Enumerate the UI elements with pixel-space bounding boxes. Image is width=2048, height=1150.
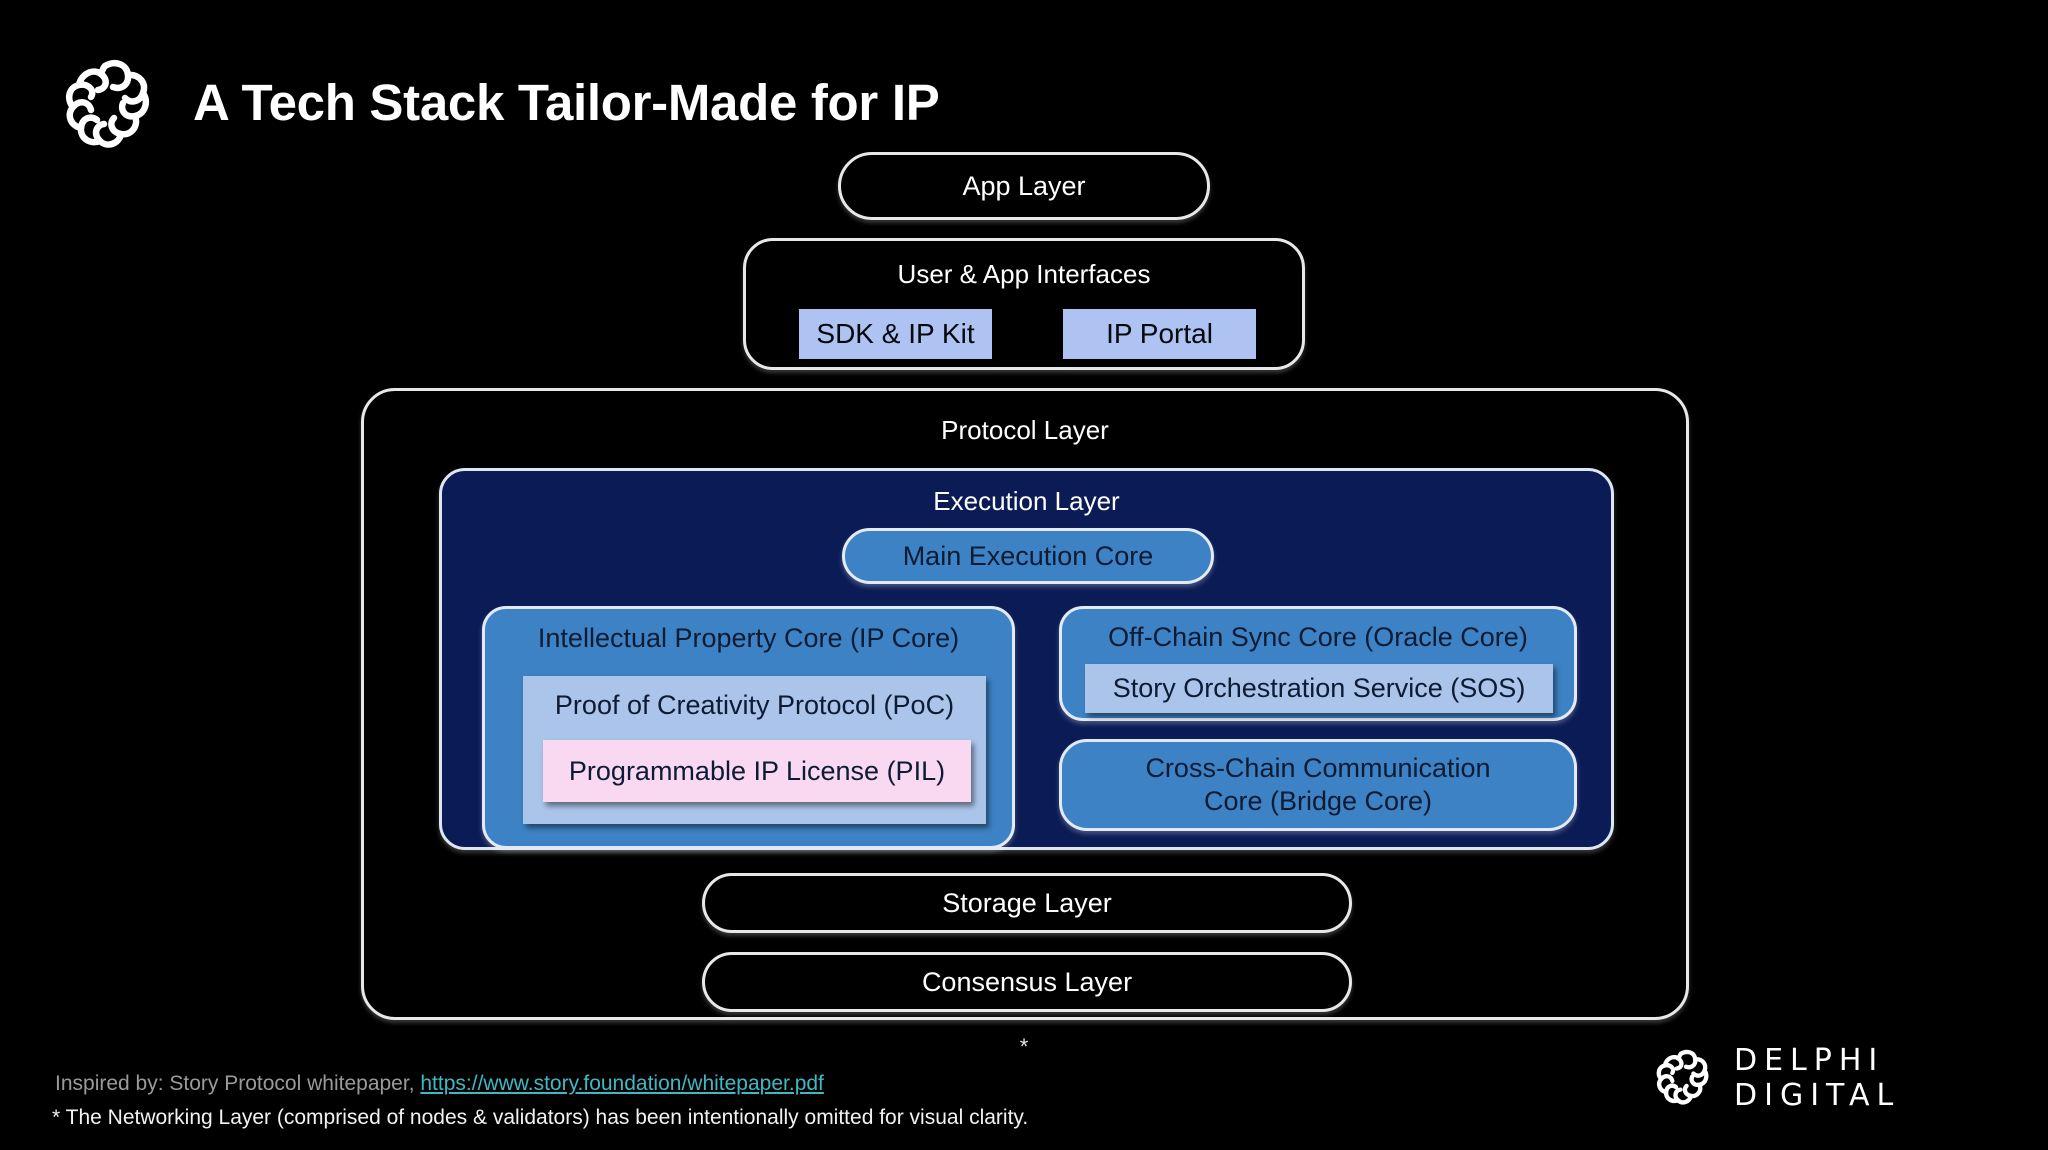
disclaimer-line: * The Networking Layer (comprised of nod…	[52, 1106, 1028, 1130]
storage-layer-label: Storage Layer	[942, 888, 1112, 919]
pil-box[interactable]: Programmable IP License (PIL)	[543, 740, 971, 802]
main-execution-core-box[interactable]: Main Execution Core	[842, 528, 1214, 584]
execution-layer-label: Execution Layer	[442, 486, 1611, 517]
bridge-core-label-line1: Cross-Chain Communication	[1145, 752, 1490, 785]
sdk-ip-kit-box[interactable]: SDK & IP Kit	[799, 309, 992, 359]
slide-header: A Tech Stack Tailor-Made for IP	[55, 52, 939, 152]
whitepaper-link[interactable]: https://www.story.foundation/whitepaper.…	[420, 1072, 824, 1095]
app-layer-box[interactable]: App Layer	[838, 152, 1210, 220]
user-app-interfaces-box[interactable]: User & App Interfaces SDK & IP Kit IP Po…	[743, 238, 1305, 370]
ip-core-label: Intellectual Property Core (IP Core)	[485, 623, 1012, 654]
protocol-layer-label: Protocol Layer	[364, 415, 1686, 446]
poc-label: Proof of Creativity Protocol (PoC)	[555, 690, 954, 721]
oracle-core-box[interactable]: Off-Chain Sync Core (Oracle Core) Story …	[1059, 606, 1577, 721]
execution-layer-box[interactable]: Execution Layer Main Execution Core Inte…	[439, 468, 1614, 850]
pil-label: Programmable IP License (PIL)	[569, 756, 945, 787]
oracle-core-label: Off-Chain Sync Core (Oracle Core)	[1062, 622, 1574, 653]
page-title: A Tech Stack Tailor-Made for IP	[193, 73, 939, 132]
ip-core-box[interactable]: Intellectual Property Core (IP Core) Pro…	[482, 606, 1015, 849]
bridge-core-box[interactable]: Cross-Chain Communication Core (Bridge C…	[1059, 739, 1577, 831]
sos-box[interactable]: Story Orchestration Service (SOS)	[1085, 664, 1553, 713]
credit-line: Inspired by: Story Protocol whitepaper, …	[55, 1072, 824, 1096]
delphi-brand: DELPHI DIGITAL	[1650, 1043, 2048, 1113]
delphi-brand-name: DELPHI DIGITAL	[1734, 1043, 2048, 1113]
main-execution-core-label: Main Execution Core	[903, 540, 1154, 573]
app-layer-label: App Layer	[962, 171, 1085, 202]
sdk-ip-kit-label: SDK & IP Kit	[816, 318, 974, 350]
delphi-knot-logo-icon	[1650, 1045, 1712, 1112]
slide-canvas: A Tech Stack Tailor-Made for IP App Laye…	[0, 0, 2048, 1150]
user-app-interfaces-label: User & App Interfaces	[746, 259, 1302, 290]
ip-portal-box[interactable]: IP Portal	[1063, 309, 1256, 359]
consensus-layer-label: Consensus Layer	[922, 967, 1132, 998]
sos-label: Story Orchestration Service (SOS)	[1113, 673, 1526, 704]
bridge-core-label-line2: Core (Bridge Core)	[1204, 785, 1432, 818]
storage-layer-box[interactable]: Storage Layer	[702, 873, 1352, 933]
ip-portal-label: IP Portal	[1106, 318, 1213, 350]
consensus-layer-box[interactable]: Consensus Layer	[702, 952, 1352, 1012]
story-knot-logo-icon	[55, 52, 155, 152]
protocol-layer-box[interactable]: Protocol Layer Execution Layer Main Exec…	[361, 388, 1689, 1020]
credit-prefix-text: Inspired by: Story Protocol whitepaper,	[55, 1072, 415, 1095]
